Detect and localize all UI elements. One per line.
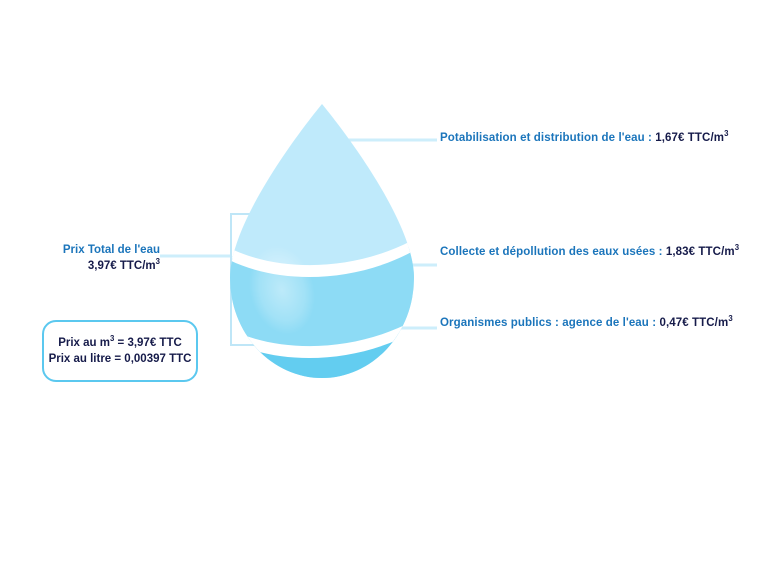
callout-organismes-value: 0,47€ TTC/m xyxy=(659,317,728,329)
callout-potabilisation-value: 1,67€ TTC/m xyxy=(655,132,724,144)
callout-organismes-label: Organismes publics : agence de l'eau : xyxy=(440,317,659,329)
price-per-cubic-meter-suffix: = 3,97€ TTC xyxy=(114,337,181,349)
callout-collecte-exponent: 3 xyxy=(735,243,739,252)
price-per-cubic-meter-prefix: Prix au m xyxy=(58,337,110,349)
callout-organismes-exponent: 3 xyxy=(728,314,732,323)
callout-potabilisation-exponent: 3 xyxy=(724,129,728,138)
total-price-label: Prix Total de l'eau 3,97€ TTC/m3 xyxy=(48,243,160,274)
total-price-amount: 3,97€ TTC/m xyxy=(88,260,156,272)
infographic-graphics xyxy=(0,0,768,576)
callout-organismes: Organismes publics : agence de l'eau : 0… xyxy=(440,317,733,331)
price-summary-box: Prix au m3 = 3,97€ TTC Prix au litre = 0… xyxy=(42,320,198,382)
price-per-litre: Prix au litre = 0,00397 TTC xyxy=(49,352,192,366)
price-per-cubic-meter: Prix au m3 = 3,97€ TTC xyxy=(58,336,182,350)
total-price-name: Prix Total de l'eau xyxy=(48,243,160,259)
callout-collecte-label: Collecte et dépollution des eaux usées : xyxy=(440,246,666,258)
callout-potabilisation-label: Potabilisation et distribution de l'eau … xyxy=(440,132,655,144)
callout-collecte: Collecte et dépollution des eaux usées :… xyxy=(440,246,739,260)
droplet-body xyxy=(212,90,438,400)
callout-collecte-value: 1,83€ TTC/m xyxy=(666,246,735,258)
water-price-infographic: Potabilisation et distribution de l'eau … xyxy=(0,0,768,576)
total-price-value: 3,97€ TTC/m3 xyxy=(48,259,160,275)
callout-potabilisation: Potabilisation et distribution de l'eau … xyxy=(440,132,729,146)
total-price-exponent: 3 xyxy=(156,257,160,266)
